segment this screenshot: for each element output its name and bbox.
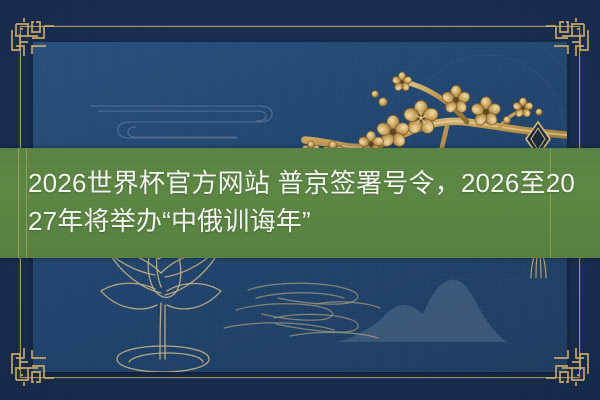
banner-image: 2026世界杯官方网站 普京签署号令，2026至2027年将举办“中俄训诲年” — [0, 0, 600, 400]
headline-text: 2026世界杯官方网站 普京签署号令，2026至2027年将举办“中俄训诲年” — [0, 148, 600, 240]
title-band: 2026世界杯官方网站 普京签署号令，2026至2027年将举办“中俄训诲年” — [0, 148, 600, 258]
mountain-silhouette-icon — [329, 258, 509, 348]
water-ripple-icon — [128, 274, 428, 354]
cloud-ribbon-icon — [88, 88, 288, 148]
